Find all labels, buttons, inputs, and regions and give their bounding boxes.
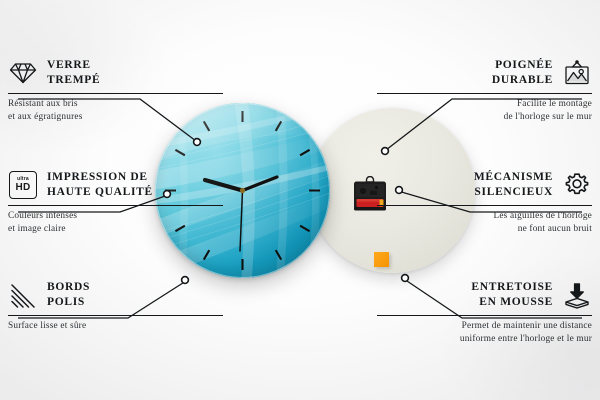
feature-desc-line2: ne font aucun bruit <box>377 223 592 236</box>
feature-title: MÉCANISME SILENCIEUX <box>474 170 553 199</box>
divider <box>8 93 223 94</box>
foam-spacer <box>374 252 389 267</box>
feature-title-line2: HAUTE QUALITÉ <box>47 185 153 200</box>
feature-description: Facilite le montage de l'horloge sur le … <box>377 98 592 124</box>
feature-title: ENTRETOISE EN MOUSSE <box>471 280 553 309</box>
feature-bords-polis: BORDS POLIS Surface lisse et sûre <box>8 278 223 333</box>
feature-description: Surface lisse et sûre <box>8 320 223 333</box>
feature-desc-line1: Couleurs intenses <box>8 210 223 223</box>
feature-header: BORDS POLIS <box>8 278 223 312</box>
feature-header: MÉCANISME SILENCIEUX <box>377 168 592 202</box>
feature-desc-line1: Résistant aux bris <box>8 98 223 111</box>
press-down-foam-icon <box>562 280 592 310</box>
feature-desc-line1: Surface lisse et sûre <box>8 320 223 333</box>
feature-description: Permet de maintenir une distance uniform… <box>377 320 592 346</box>
feature-title-line1: MÉCANISME <box>474 170 553 185</box>
polished-edge-icon <box>8 280 38 310</box>
product-infographic: VERRE TREMPÉ Résistant aux bris et aux é… <box>0 0 600 400</box>
feature-impression-haute-qualite: ultra HD IMPRESSION DE HAUTE QUALITÉ Cou… <box>8 168 223 236</box>
ultra-hd-big-text: HD <box>15 183 30 193</box>
feature-title-line1: POIGNÉE <box>492 58 553 73</box>
feature-desc-line2: de l'horloge sur le mur <box>377 111 592 124</box>
feature-title: IMPRESSION DE HAUTE QUALITÉ <box>47 170 153 199</box>
feature-verre-trempe: VERRE TREMPÉ Résistant aux bris et aux é… <box>8 56 223 124</box>
feature-title-line2: EN MOUSSE <box>471 295 553 310</box>
feature-desc-line2: uniforme entre l'horloge et le mur <box>377 333 592 346</box>
feature-title-line2: POLIS <box>47 295 90 310</box>
feature-title: POIGNÉE DURABLE <box>492 58 553 87</box>
divider <box>377 315 592 316</box>
feature-header: ultra HD IMPRESSION DE HAUTE QUALITÉ <box>8 168 223 202</box>
feature-mecanisme-silencieux: MÉCANISME SILENCIEUX Les aiguilles de l'… <box>377 168 592 236</box>
feature-description: Résistant aux bris et aux égratignures <box>8 98 223 124</box>
feature-desc-line2: et image claire <box>8 223 223 236</box>
feature-title: VERRE TREMPÉ <box>47 58 100 87</box>
feature-title: BORDS POLIS <box>47 280 90 309</box>
feature-description: Les aiguilles de l'horloge ne font aucun… <box>377 210 592 236</box>
feature-entretoise-en-mousse: ENTRETOISE EN MOUSSE Permet de maintenir… <box>377 278 592 346</box>
feature-header: ENTRETOISE EN MOUSSE <box>377 278 592 312</box>
hanging-picture-icon <box>562 58 592 88</box>
feature-title-line1: IMPRESSION DE <box>47 170 153 185</box>
gear-icon <box>562 170 592 200</box>
feature-title-line1: VERRE <box>47 58 100 73</box>
feature-desc-line1: Permet de maintenir une distance <box>377 320 592 333</box>
feature-title-line2: SILENCIEUX <box>474 185 553 200</box>
feature-description: Couleurs intenses et image claire <box>8 210 223 236</box>
feature-desc-line1: Facilite le montage <box>377 98 592 111</box>
feature-desc-line1: Les aiguilles de l'horloge <box>377 210 592 223</box>
diamond-icon <box>8 58 38 88</box>
divider <box>377 93 592 94</box>
divider <box>377 205 592 206</box>
feature-title-line2: DURABLE <box>492 73 553 88</box>
feature-poignee-durable: POIGNÉE DURABLE Facilite le montage de l… <box>377 56 592 124</box>
feature-title-line2: TREMPÉ <box>47 73 100 88</box>
feature-title-line1: BORDS <box>47 280 90 295</box>
feature-header: POIGNÉE DURABLE <box>377 56 592 90</box>
feature-desc-line2: et aux égratignures <box>8 111 223 124</box>
ultra-hd-icon: ultra HD <box>8 170 38 200</box>
divider <box>8 315 223 316</box>
feature-title-line1: ENTRETOISE <box>471 280 553 295</box>
divider <box>8 205 223 206</box>
feature-header: VERRE TREMPÉ <box>8 56 223 90</box>
